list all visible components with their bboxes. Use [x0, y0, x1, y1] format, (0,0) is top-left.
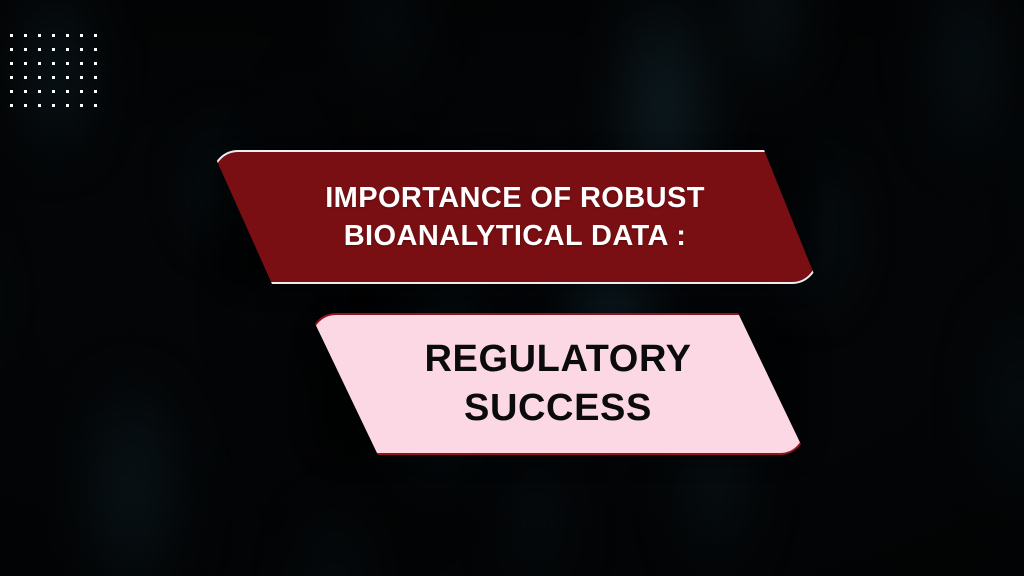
dot-grid-dot [10, 34, 13, 37]
dot-grid-dot [38, 48, 41, 51]
dot-grid-dot [38, 104, 41, 107]
dot-grid-dot [52, 90, 55, 93]
dot-grid-dot [10, 90, 13, 93]
dot-grid-dot [80, 104, 83, 107]
dot-grid-dot [66, 34, 69, 37]
dot-grid-dot [24, 34, 27, 37]
dot-grid-dot [66, 90, 69, 93]
title-banner-primary: IMPORTANCE OF ROBUST BIOANALYTICAL DATA … [212, 150, 818, 284]
dot-grid-dot [10, 104, 13, 107]
dot-grid-dot [52, 76, 55, 79]
dot-grid-dot [66, 104, 69, 107]
dot-grid-dot [52, 62, 55, 65]
dot-grid-dot [94, 76, 97, 79]
dot-grid-dot [10, 62, 13, 65]
dot-grid-dot [80, 62, 83, 65]
dot-grid-dot [66, 62, 69, 65]
dot-grid-dot [80, 90, 83, 93]
title-banner-secondary: REGULATORY SUCCESS [310, 313, 806, 455]
dot-grid-dot [80, 34, 83, 37]
dot-grid-dot [52, 104, 55, 107]
dot-grid-dot [10, 48, 13, 51]
dot-grid-dot [38, 62, 41, 65]
dot-grid-dot [66, 48, 69, 51]
primary-banner-line-2: BIOANALYTICAL DATA : [344, 217, 687, 255]
dot-grid-dot [52, 34, 55, 37]
dot-grid-dot [94, 62, 97, 65]
dot-grid-dot [38, 76, 41, 79]
dot-grid-dot [24, 104, 27, 107]
dot-grid-dot [24, 76, 27, 79]
dot-grid-dot [24, 48, 27, 51]
dot-grid-dot [94, 48, 97, 51]
dot-grid-dot [80, 76, 83, 79]
dot-grid-dot [94, 90, 97, 93]
dot-grid-dot [10, 76, 13, 79]
dot-grid-dot [38, 34, 41, 37]
dot-grid-dot [24, 90, 27, 93]
dot-grid-dot [24, 62, 27, 65]
slide-canvas: IMPORTANCE OF ROBUST BIOANALYTICAL DATA … [0, 0, 1024, 576]
primary-banner-line-1: IMPORTANCE OF ROBUST [325, 179, 705, 217]
dot-grid-dot [94, 104, 97, 107]
dot-grid-dot [94, 34, 97, 37]
secondary-banner-line-1: REGULATORY [424, 335, 691, 384]
dot-grid-dot [80, 48, 83, 51]
dot-grid-decoration [10, 34, 108, 118]
dot-grid-dot [52, 48, 55, 51]
dot-grid-dot [38, 90, 41, 93]
secondary-banner-line-2: SUCCESS [464, 384, 652, 433]
dot-grid-dot [66, 76, 69, 79]
background-grain [0, 0, 1024, 576]
